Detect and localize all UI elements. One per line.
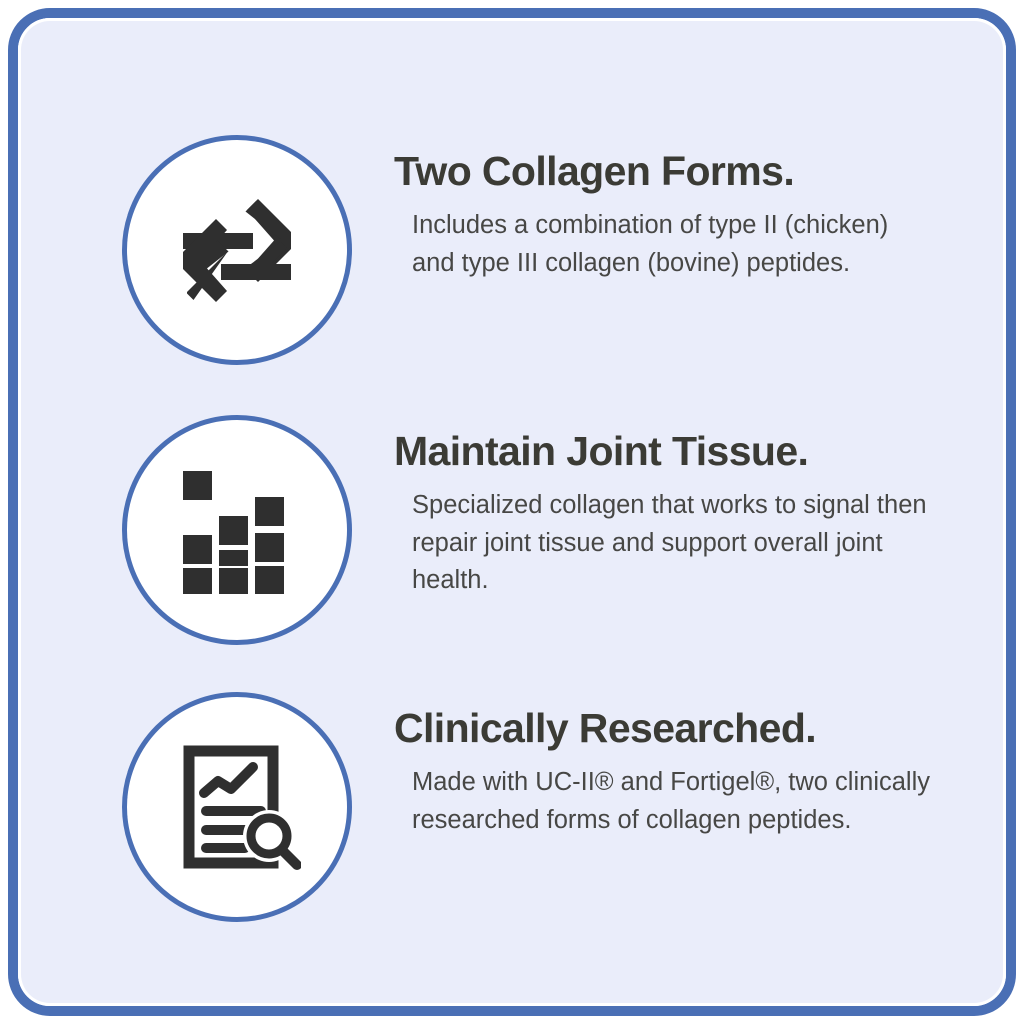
feature-body: Includes a combination of type II (chick… [394,207,932,282]
two-way-arrows-icon [175,188,299,312]
feature-text-block: Two Collagen Forms. Includes a combinati… [352,135,962,282]
feature-item-maintain-joint-tissue: Maintain Joint Tissue. Specialized colla… [122,415,962,645]
feature-list: Two Collagen Forms. Includes a combinati… [18,18,1006,1006]
feature-heading: Two Collagen Forms. [394,149,962,193]
icon-badge [122,135,352,365]
feature-item-two-collagen-forms: Two Collagen Forms. Includes a combinati… [122,135,962,365]
icon-badge [122,692,352,922]
feature-heading: Maintain Joint Tissue. [394,429,962,473]
feature-text-block: Clinically Researched. Made with UC-II® … [352,692,962,839]
feature-body: Specialized collagen that works to signa… [394,487,932,599]
feature-item-clinically-researched: Clinically Researched. Made with UC-II® … [122,692,962,922]
feature-body: Made with UC-II® and Fortigel®, two clin… [394,764,932,839]
feature-text-block: Maintain Joint Tissue. Specialized colla… [352,415,962,600]
document-search-icon [173,743,301,871]
tissue-blocks-icon [178,466,296,594]
icon-badge [122,415,352,645]
feature-heading: Clinically Researched. [394,706,962,750]
card-inner-surface: Two Collagen Forms. Includes a combinati… [18,18,1006,1006]
feature-card: Two Collagen Forms. Includes a combinati… [8,8,1016,1016]
